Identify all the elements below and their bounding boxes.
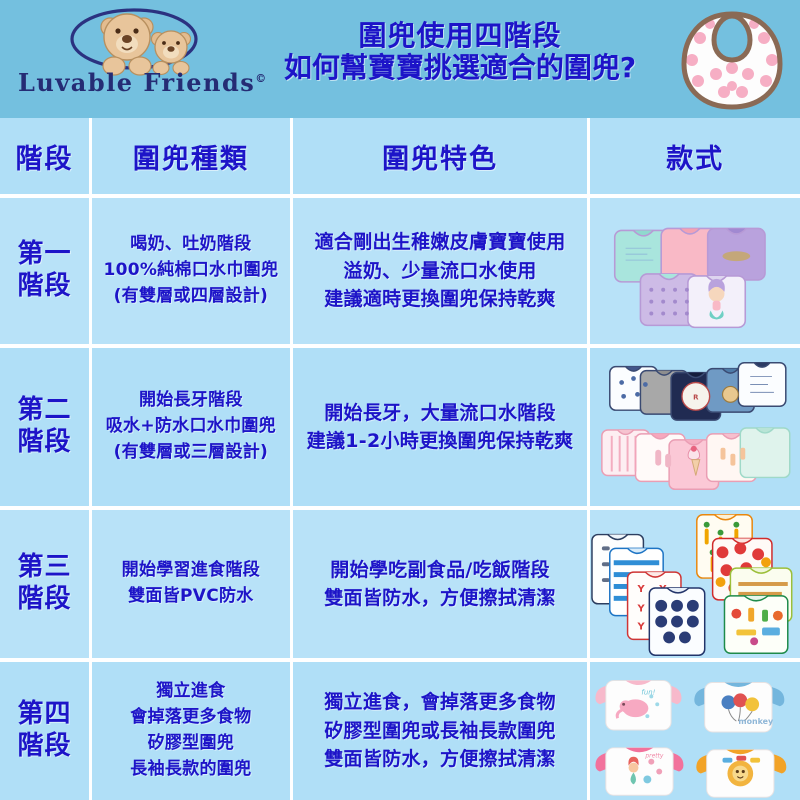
feature-text: 開始長牙，大量流口水階段 建議1-2小時更換圍兜保持乾爽 <box>307 399 574 456</box>
cell-stage: 第一 階段 <box>0 198 89 344</box>
type-line: (有雙層或三層設計) <box>114 442 269 462</box>
table-row: 第二 階段 開始長牙階段 吸水+防水口水巾圍兜 (有雙層或三層設計) 開始長牙，… <box>0 348 800 506</box>
column-header-stage: 階段 <box>0 118 89 194</box>
column-header-style: 款式 <box>590 118 800 194</box>
type-text: 喝奶、吐奶階段 100%純棉口水巾圍兜 (有雙層或四層設計) <box>103 232 278 309</box>
brand-name-text: Luvable Friends <box>18 68 255 97</box>
feature-line: 開始學吃副食品/吃飯階段 <box>330 559 550 581</box>
stage-label: 第二 階段 <box>17 395 71 458</box>
stage-label-line2: 階段 <box>17 584 71 614</box>
feature-line: 雙面皆防水，方便擦拭清潔 <box>324 748 556 770</box>
type-line: 獨立進食 <box>156 681 225 701</box>
feature-line: 建議適時更換圍兜保持乾爽 <box>324 288 556 310</box>
stage-label: 第一 階段 <box>17 239 71 302</box>
stage-label: 第三 階段 <box>17 552 71 615</box>
type-text: 開始學習進食階段 雙面皆PVC防水 <box>122 558 260 610</box>
feature-text: 開始學吃副食品/吃飯階段 雙面皆防水，方便擦拭清潔 <box>324 556 556 613</box>
feature-line: 溢奶、少量流口水使用 <box>344 260 537 282</box>
page-title-line2: 如何幫寶寶挑選適合的圍兜? <box>250 52 670 84</box>
stage-label-line1: 第二 <box>17 395 71 425</box>
cell-type: 開始長牙階段 吸水+防水口水巾圍兜 (有雙層或三層設計) <box>92 348 290 506</box>
table-row: 第一 階段 喝奶、吐奶階段 100%純棉口水巾圍兜 (有雙層或四層設計) 適合剛… <box>0 198 800 344</box>
cell-type: 開始學習進食階段 雙面皆PVC防水 <box>92 510 290 658</box>
cell-type: 喝奶、吐奶階段 100%純棉口水巾圍兜 (有雙層或四層設計) <box>92 198 290 344</box>
type-line: (有雙層或四層設計) <box>114 286 269 306</box>
stage-label-line2: 階段 <box>17 731 71 761</box>
svg-text:Y: Y <box>637 604 646 615</box>
type-line: 開始長牙階段 <box>139 390 243 410</box>
column-header-stage-label: 階段 <box>16 137 74 176</box>
svg-text:R: R <box>694 393 700 401</box>
style-photo-stage4: fun! monkey <box>590 662 800 800</box>
svg-text:monkey: monkey <box>739 717 775 726</box>
stages-table: 階段 圍兜種類 圍兜特色 款式 第一 階段 喝奶、吐奶階段 100%純棉口水巾圍… <box>0 118 800 800</box>
cell-feature: 開始學吃副食品/吃飯階段 雙面皆防水，方便擦拭清潔 <box>293 510 588 658</box>
brand-logo: Luvable Friends© <box>18 6 250 110</box>
page-header: Luvable Friends© 圍兜使用四階段 如何幫寶寶挑選適合的圍兜? <box>0 0 800 118</box>
cell-stage: 第四 階段 <box>0 662 89 800</box>
type-line: 開始學習進食階段 <box>122 560 260 580</box>
page-title-line1: 圍兜使用四階段 <box>250 20 670 52</box>
table-row: 第三 階段 開始學習進食階段 雙面皆PVC防水 開始學吃副食品/吃飯階段 雙面皆… <box>0 510 800 658</box>
cell-stage: 第二 階段 <box>0 348 89 506</box>
style-photo-stage1 <box>590 198 800 344</box>
cell-feature: 適合剛出生稚嫩皮膚寶寶使用 溢奶、少量流口水使用 建議適時更換圍兜保持乾爽 <box>293 198 588 344</box>
cell-type: 獨立進食 會掉落更多食物 矽膠型圍兜 長袖長款的圍兜 <box>92 662 290 800</box>
cell-stage: 第三 階段 <box>0 510 89 658</box>
infographic-page: Luvable Friends© 圍兜使用四階段 如何幫寶寶挑選適合的圍兜? <box>0 0 800 800</box>
type-line: 矽膠型圍兜 <box>148 733 235 753</box>
style-photo-stage3: YYYYY <box>590 510 800 658</box>
cell-style: fun! monkey <box>590 662 800 800</box>
type-line: 會掉落更多食物 <box>130 707 251 727</box>
type-text: 開始長牙階段 吸水+防水口水巾圍兜 (有雙層或三層設計) <box>106 388 276 465</box>
feature-line: 獨立進食，會掉落更多食物 <box>324 691 556 713</box>
column-header-feature: 圍兜特色 <box>293 118 588 194</box>
stage-label-line2: 階段 <box>17 271 71 301</box>
style-photo-stage2: R <box>590 348 800 506</box>
polka-dot-bib-icon <box>676 8 788 112</box>
type-line: 長袖長款的圍兜 <box>130 759 251 779</box>
page-title: 圍兜使用四階段 如何幫寶寶挑選適合的圍兜? <box>250 20 670 85</box>
cell-feature: 開始長牙，大量流口水階段 建議1-2小時更換圍兜保持乾爽 <box>293 348 588 506</box>
cell-style <box>590 198 800 344</box>
type-line: 喝奶、吐奶階段 <box>130 234 251 254</box>
column-header-style-label: 款式 <box>666 137 724 176</box>
feature-line: 矽膠型圍兜或長袖長款圍兜 <box>324 720 556 742</box>
table-header-row: 階段 圍兜種類 圍兜特色 款式 <box>0 118 800 194</box>
stage-label: 第四 階段 <box>17 699 71 762</box>
stage-label-line1: 第一 <box>17 239 71 269</box>
type-line: 雙面皆PVC防水 <box>128 586 254 606</box>
stage-label-line1: 第四 <box>17 699 71 729</box>
svg-text:Y: Y <box>637 584 646 595</box>
feature-line: 適合剛出生稚嫩皮膚寶寶使用 <box>315 231 566 253</box>
feature-line: 開始長牙，大量流口水階段 <box>324 402 556 424</box>
stage-label-line1: 第三 <box>17 552 71 582</box>
stage-label-line2: 階段 <box>17 427 71 457</box>
feature-text: 適合剛出生稚嫩皮膚寶寶使用 溢奶、少量流口水使用 建議適時更換圍兜保持乾爽 <box>315 228 566 314</box>
column-header-type: 圍兜種類 <box>92 118 290 194</box>
type-text: 獨立進食 會掉落更多食物 矽膠型圍兜 長袖長款的圍兜 <box>130 679 251 782</box>
cell-feature: 獨立進食，會掉落更多食物 矽膠型圍兜或長袖長款圍兜 雙面皆防水，方便擦拭清潔 <box>293 662 588 800</box>
type-line: 100%純棉口水巾圍兜 <box>103 260 278 280</box>
cell-style: R <box>590 348 800 506</box>
feature-line: 雙面皆防水，方便擦拭清潔 <box>324 587 556 609</box>
svg-text:Y: Y <box>637 621 646 632</box>
cell-style: YYYYY <box>590 510 800 658</box>
column-header-type-label: 圍兜種類 <box>133 137 249 176</box>
feature-text: 獨立進食，會掉落更多食物 矽膠型圍兜或長袖長款圍兜 雙面皆防水，方便擦拭清潔 <box>324 688 556 774</box>
type-line: 吸水+防水口水巾圍兜 <box>106 416 276 436</box>
svg-text:fun!: fun! <box>642 688 656 696</box>
brand-name: Luvable Friends© <box>18 68 250 97</box>
feature-line: 建議1-2小時更換圍兜保持乾爽 <box>307 430 574 452</box>
svg-text:pretty: pretty <box>645 753 664 760</box>
table-row: 第四 階段 獨立進食 會掉落更多食物 矽膠型圍兜 長袖長款的圍兜 獨立進食，會掉… <box>0 662 800 800</box>
column-header-feature-label: 圍兜特色 <box>382 137 498 176</box>
